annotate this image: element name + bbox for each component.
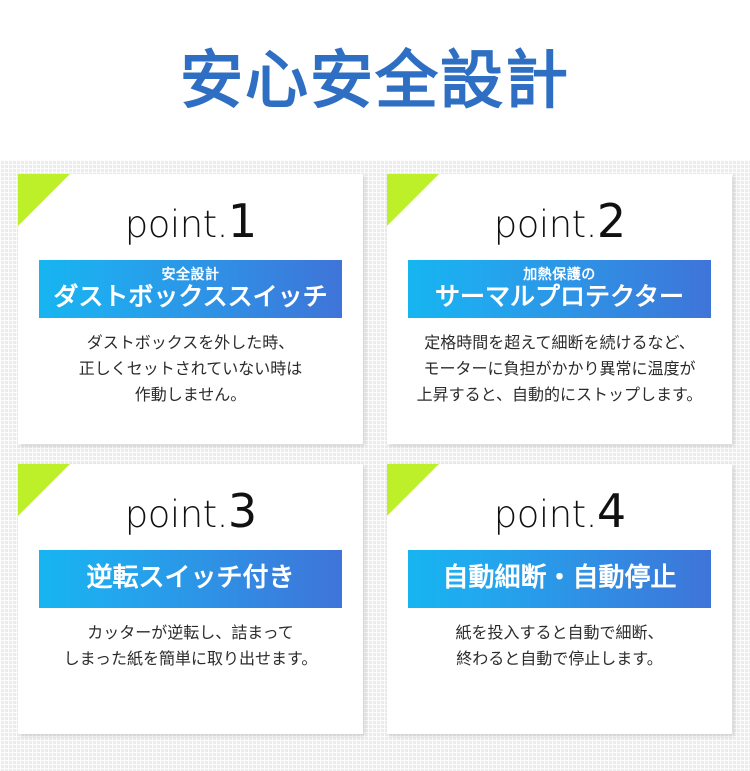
point-word: point. [125,203,228,246]
point-number: 4 [597,484,625,538]
point-word: point. [494,493,597,536]
point-number: 3 [228,484,256,538]
feature-card-point-2: point.2 加熱保護の サーマルプロテクター 定格時間を超えて細断を続けるな… [387,174,732,444]
point-number: 1 [228,194,256,248]
feature-card-point-4: point.4 自動細断・自動停止 紙を投入すると自動で細断、 終わると自動で停… [387,464,732,734]
feature-description: ダストボックスを外した時、 正しくセットされていない時は 作動しません。 [18,330,363,408]
feature-banner: 安全設計 ダストボックススイッチ [39,260,342,318]
corner-accent-triangle-icon [387,464,439,516]
description-line: 紙を投入すると自動で細断、 [407,620,712,646]
description-line: カッターが逆転し、詰まって [38,620,343,646]
description-line: 作動しません。 [38,382,343,408]
description-line: 正しくセットされていない時は [38,356,343,382]
banner-subtitle: 加熱保護の [523,267,596,283]
feature-card-point-3: point.3 逆転スイッチ付き カッターが逆転し、詰まって しまった紙を簡単に… [18,464,363,734]
feature-banner: 加熱保護の サーマルプロテクター [408,260,711,318]
feature-banner: 逆転スイッチ付き [39,550,342,608]
page-header: 安心安全設計 [0,0,750,160]
feature-banner: 自動細断・自動停止 [408,550,711,608]
banner-title: 自動細断・自動停止 [442,564,676,594]
corner-accent-triangle-icon [18,174,70,226]
description-line: ダストボックスを外した時、 [38,330,343,356]
point-word: point. [125,493,228,536]
banner-subtitle: 安全設計 [162,267,220,283]
banner-title: ダストボックススイッチ [53,283,327,312]
description-line: 終わると自動で停止します。 [407,646,712,672]
feature-card-point-1: point.1 安全設計 ダストボックススイッチ ダストボックスを外した時、 正… [18,174,363,444]
feature-cards-grid: point.1 安全設計 ダストボックススイッチ ダストボックスを外した時、 正… [18,174,732,734]
banner-title: サーマルプロテクター [435,283,684,312]
page-title: 安心安全設計 [180,49,570,112]
feature-description: カッターが逆転し、詰まって しまった紙を簡単に取り出せます。 [18,620,363,672]
point-number: 2 [597,194,625,248]
feature-description: 定格時間を超えて細断を続けるなど、 モーターに負担がかかり異常に温度が 上昇する… [387,330,732,408]
feature-description: 紙を投入すると自動で細断、 終わると自動で停止します。 [387,620,732,672]
corner-accent-triangle-icon [387,174,439,226]
description-line: 定格時間を超えて細断を続けるなど、 [407,330,712,356]
description-line: 上昇すると、自動的にストップします。 [407,382,712,408]
features-background: point.1 安全設計 ダストボックススイッチ ダストボックスを外した時、 正… [0,160,750,771]
description-line: モーターに負担がかかり異常に温度が [407,356,712,382]
banner-title: 逆転スイッチ付き [86,564,294,594]
description-line: しまった紙を簡単に取り出せます。 [38,646,343,672]
point-word: point. [494,203,597,246]
corner-accent-triangle-icon [18,464,70,516]
